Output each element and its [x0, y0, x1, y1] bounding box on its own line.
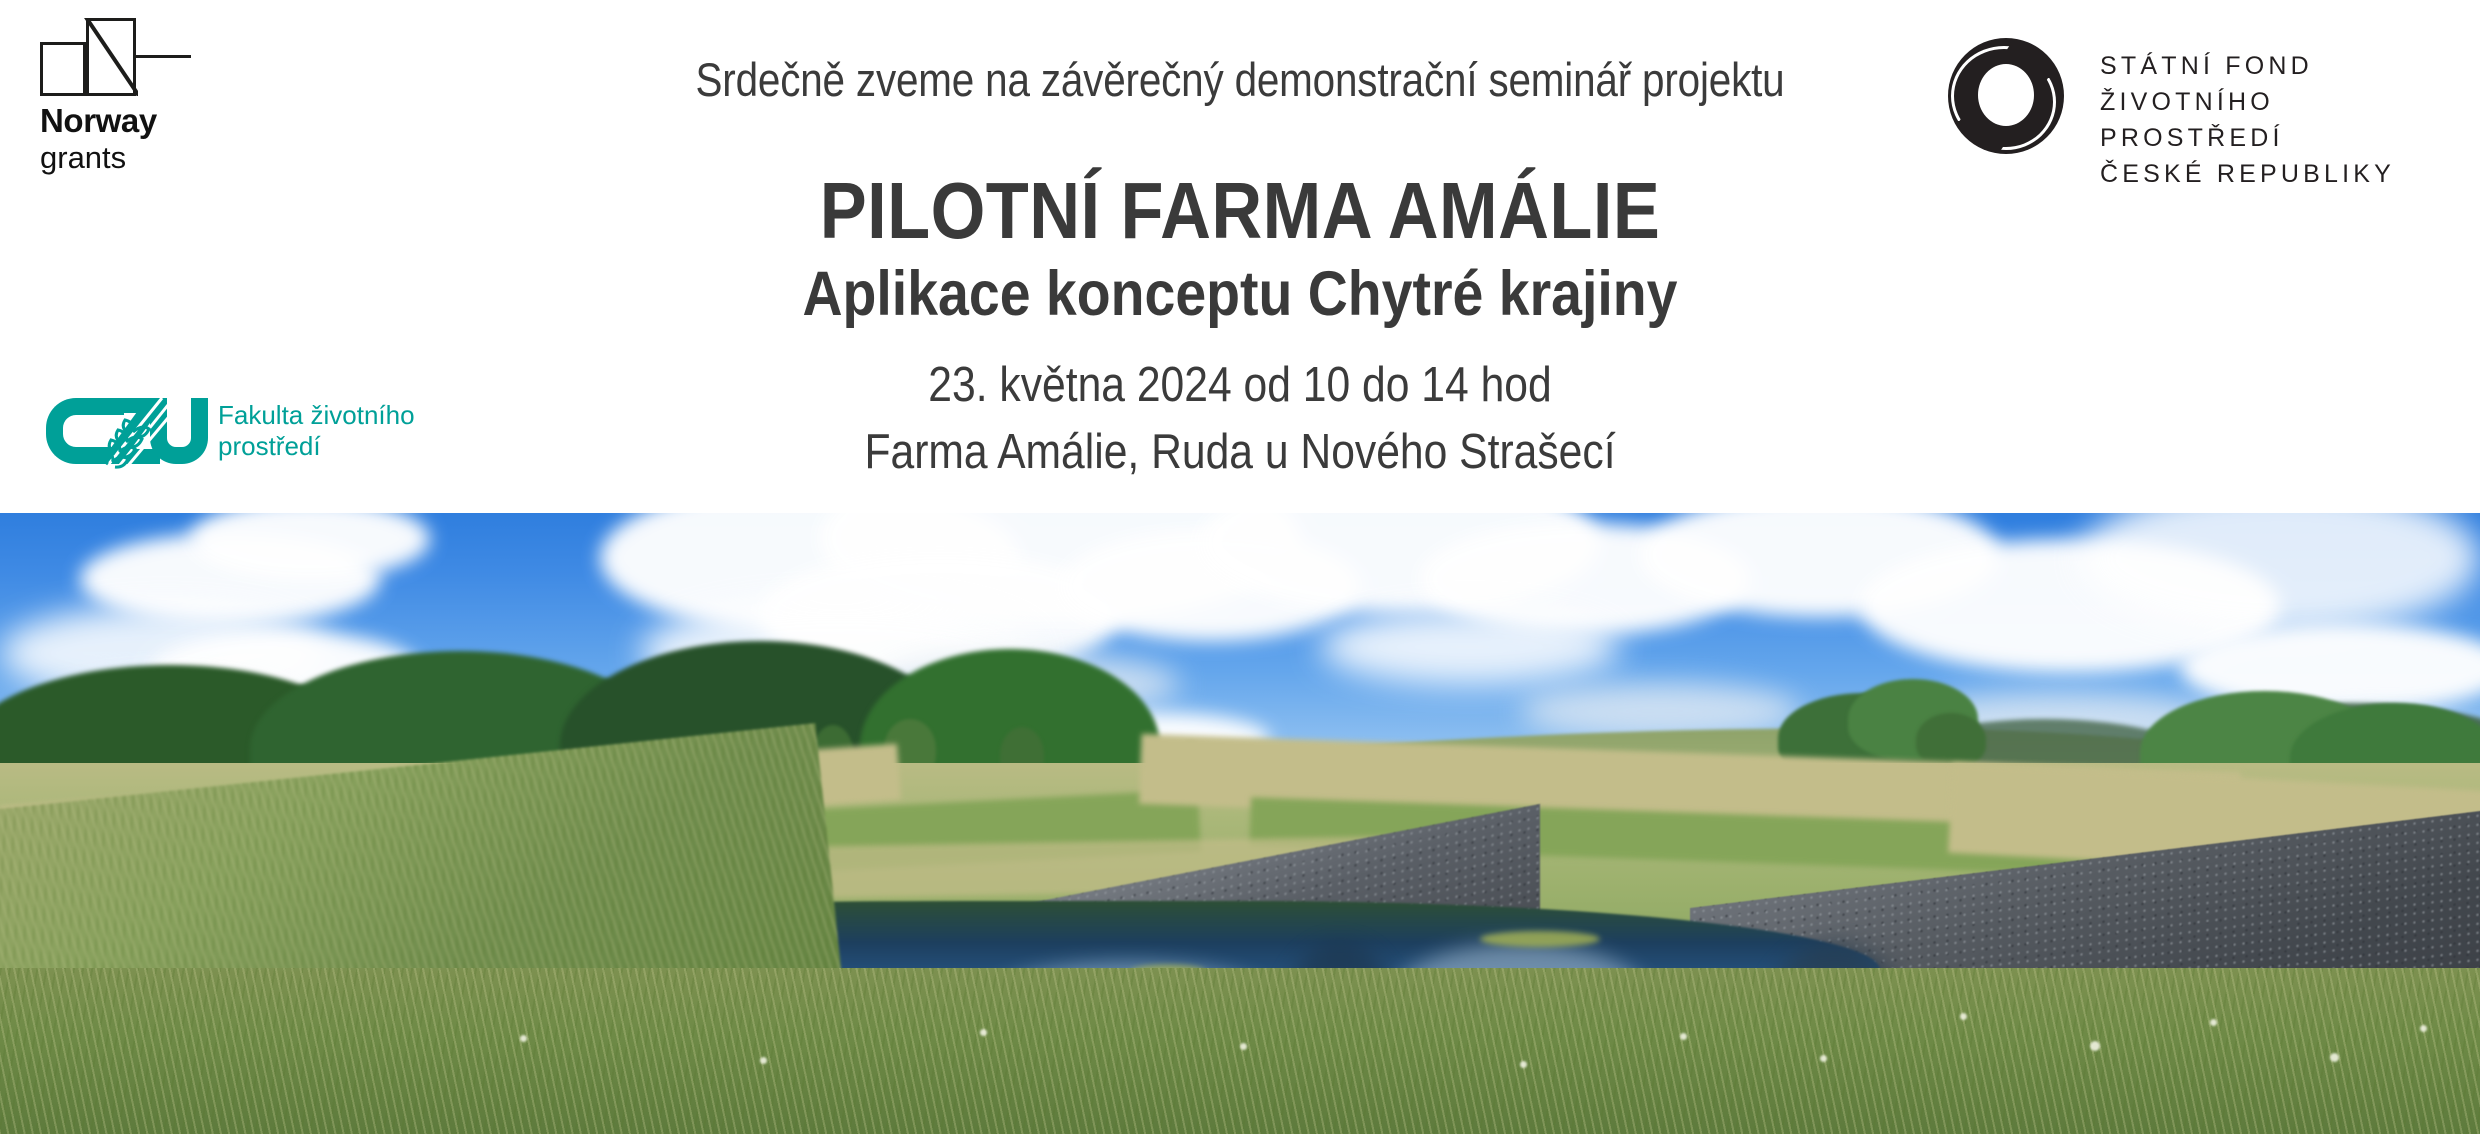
wildflower — [2330, 1053, 2339, 1062]
wildflower — [2210, 1019, 2217, 1026]
event-location: Farma Amálie, Ruda u Nového Strašecí — [161, 424, 2319, 480]
wildflower — [1960, 1013, 1967, 1020]
algae-patch — [1480, 931, 1600, 947]
poster-root: Norway grants STÁTNÍ FOND ŽIVOTNÍHO PROS… — [0, 0, 2480, 1134]
wildflower — [2090, 1041, 2100, 1051]
foreground-meadow — [0, 968, 2480, 1134]
page-title: PILOTNÍ FARMA AMÁLIE — [149, 165, 2331, 257]
wildflower — [520, 1035, 527, 1042]
lone-tree — [1916, 713, 1986, 767]
wildflower — [1240, 1043, 1247, 1050]
grass-texture — [0, 968, 2480, 1134]
wildflower — [1820, 1055, 1827, 1062]
norway-logo-word-norway: Norway — [40, 104, 157, 137]
norway-logo-word-grants: grants — [40, 142, 126, 173]
norway-grants-mark-icon — [40, 18, 190, 96]
wildflower — [760, 1057, 767, 1064]
invitation-intro-line: Srdečně zveme na závěrečný demonstrační … — [174, 52, 2307, 107]
norway-diagonal-shape — [84, 18, 138, 96]
wildflower — [1680, 1033, 1687, 1040]
page-subtitle: Aplikace konceptu Chytré krajiny — [149, 258, 2331, 330]
wildflower — [980, 1029, 987, 1036]
cloud — [1320, 609, 1620, 685]
wildflower — [1520, 1061, 1527, 1068]
event-datetime: 23. května 2024 od 10 do 14 hod — [161, 357, 2319, 413]
header-section: Norway grants STÁTNÍ FOND ŽIVOTNÍHO PROS… — [0, 0, 2480, 513]
landscape-photo: Tento projekt je financovaný z Fondů EHP… — [0, 513, 2480, 1134]
norway-square-shape — [40, 42, 86, 96]
wildflower — [2420, 1025, 2427, 1032]
